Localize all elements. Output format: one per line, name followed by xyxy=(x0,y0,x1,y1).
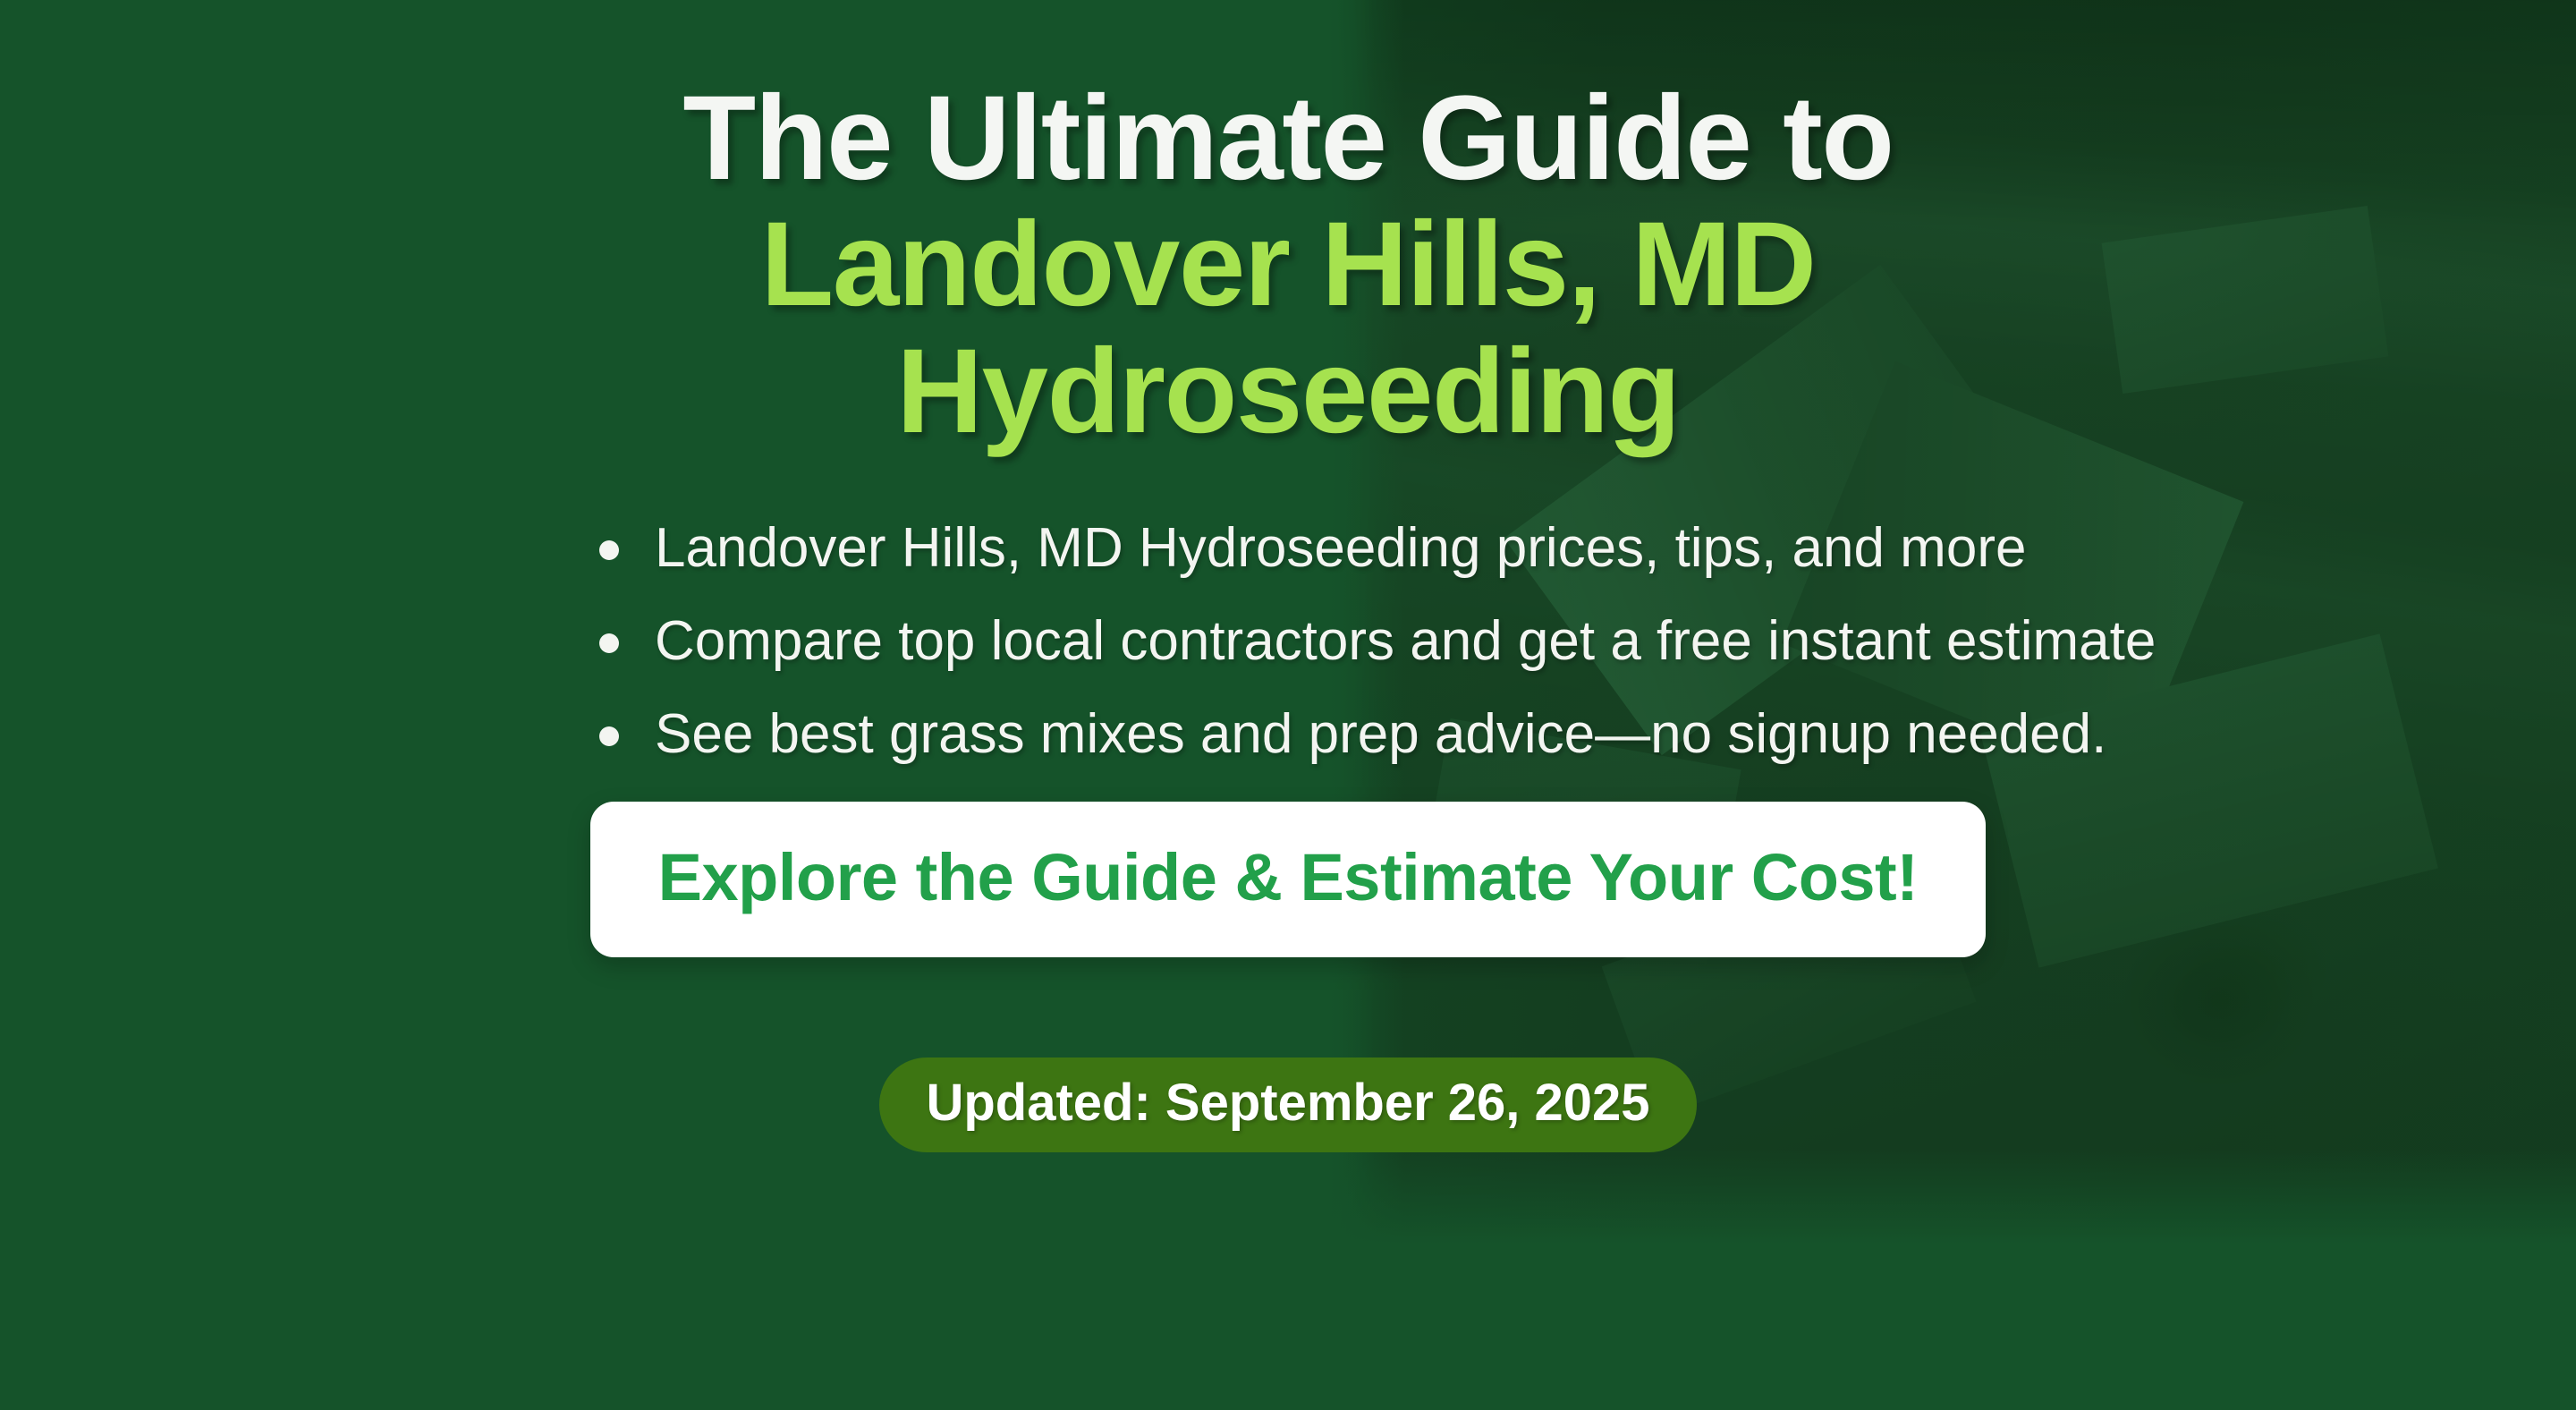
headline-line-3: Hydroseeding xyxy=(304,328,2272,454)
hero-content: The Ultimate Guide to Landover Hills, MD… xyxy=(0,0,2576,1410)
bullet-dot-icon xyxy=(599,540,619,560)
bullet-dot-icon xyxy=(599,633,619,653)
list-item: See best grass mixes and prep advice—no … xyxy=(599,707,2299,762)
hero-banner: The Ultimate Guide to Landover Hills, MD… xyxy=(0,0,2576,1410)
headline-line-2: Landover Hills, MD xyxy=(304,201,2272,327)
list-item: Landover Hills, MD Hydroseeding prices, … xyxy=(599,521,2299,576)
list-item-label: See best grass mixes and prep advice—no … xyxy=(655,703,2106,765)
updated-date-badge: Updated: September 26, 2025 xyxy=(879,1057,1696,1152)
bullet-dot-icon xyxy=(599,726,619,746)
headline-line-1: The Ultimate Guide to xyxy=(682,72,1893,205)
list-item-label: Landover Hills, MD Hydroseeding prices, … xyxy=(655,517,2026,579)
explore-guide-button[interactable]: Explore the Guide & Estimate Your Cost! xyxy=(590,802,1987,957)
feature-bullet-list: Landover Hills, MD Hydroseeding prices, … xyxy=(277,521,2299,762)
badge-row: Updated: September 26, 2025 xyxy=(0,1057,2576,1152)
list-item-label: Compare top local contractors and get a … xyxy=(655,610,2156,672)
cta-row: Explore the Guide & Estimate Your Cost! xyxy=(0,802,2576,957)
list-item: Compare top local contractors and get a … xyxy=(599,614,2299,669)
page-title: The Ultimate Guide to Landover Hills, MD… xyxy=(304,75,2272,454)
